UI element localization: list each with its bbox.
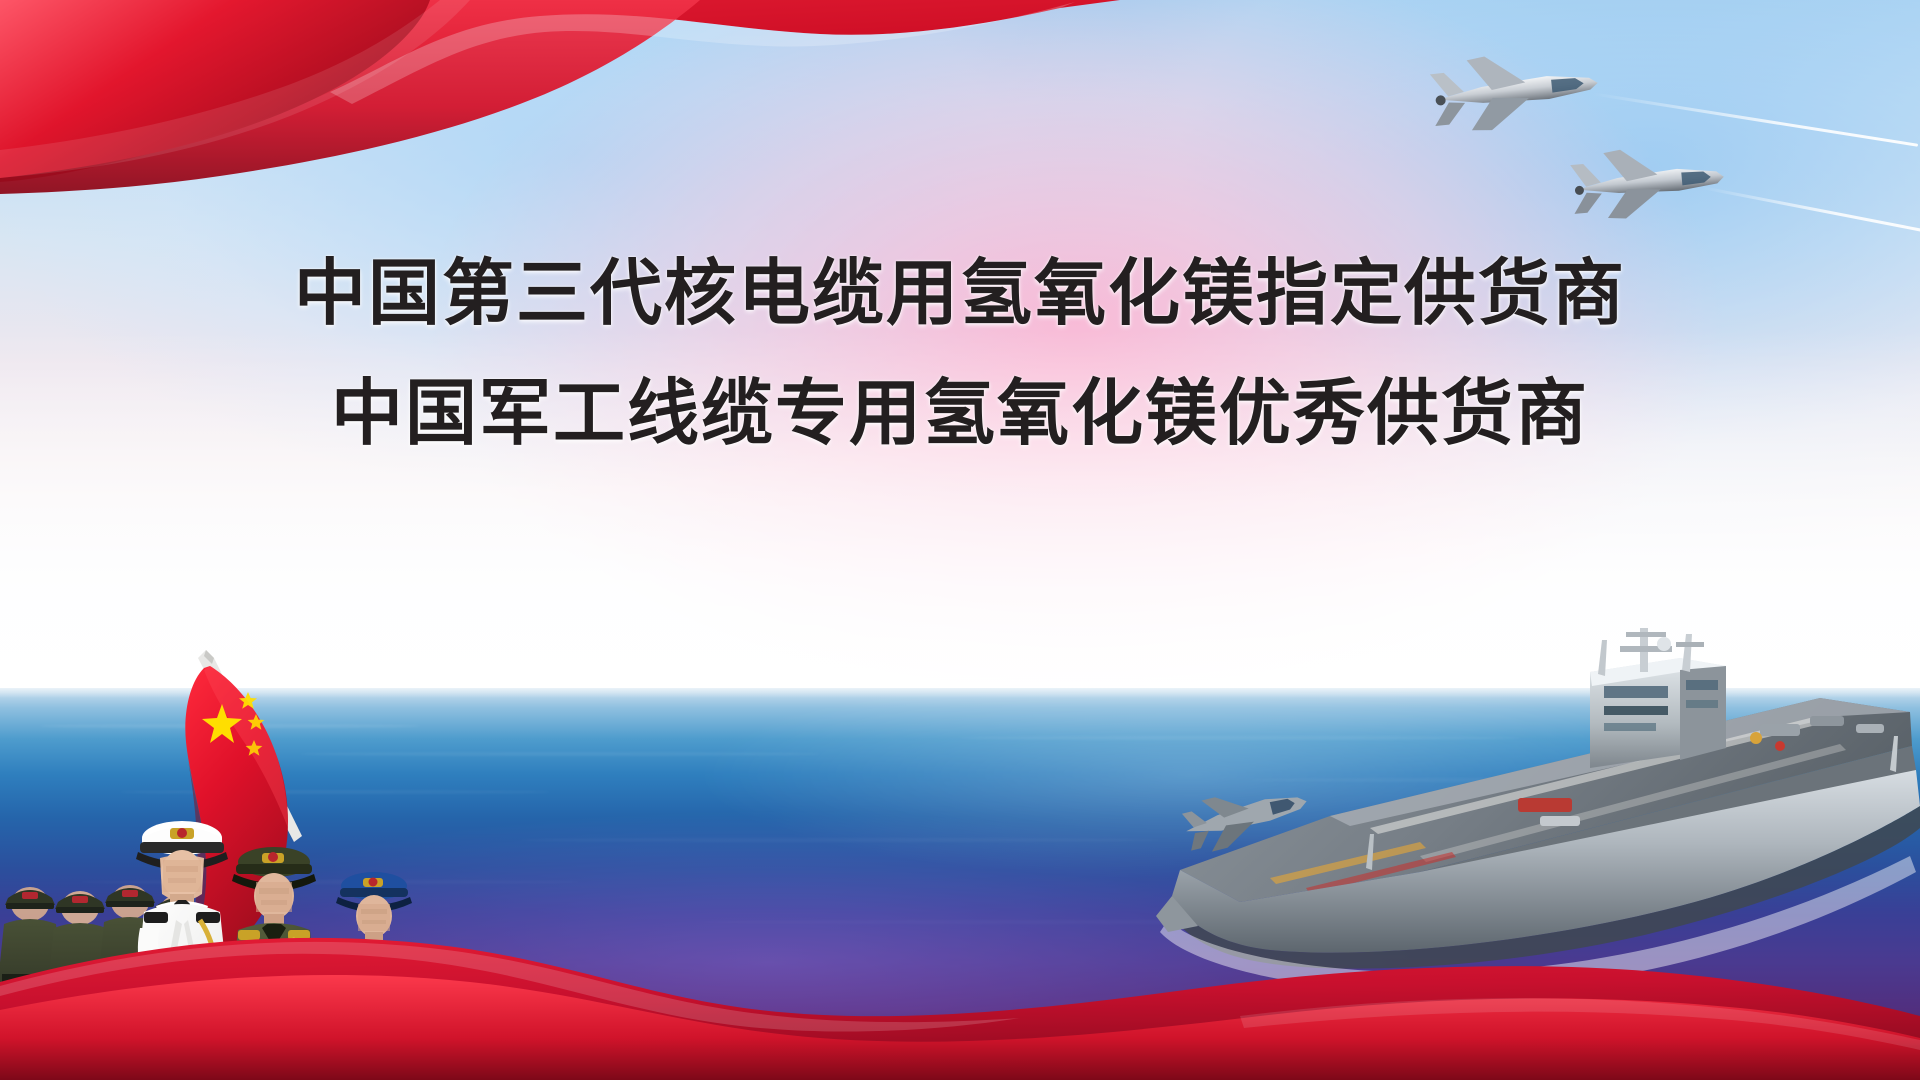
wave-streak <box>80 880 580 884</box>
honor-guard-group <box>0 630 520 1080</box>
ocean-highlight <box>0 688 1920 1080</box>
ocean-water <box>0 688 1920 1080</box>
wave-streak <box>700 920 1400 924</box>
poster-canvas: 中国第三代核电缆用氢氧化镁指定供货商 中国军工线缆专用氢氧化镁优秀供货商 <box>0 0 1920 1080</box>
wave-streak <box>960 736 1520 740</box>
red-wave-banner <box>0 900 1920 1080</box>
aircraft-carrier <box>1120 620 1920 1060</box>
fighter-jet-icon <box>1567 133 1739 231</box>
navy-officer-white <box>130 821 240 1080</box>
air-force-officer-blue <box>329 872 426 1080</box>
chinese-national-flag <box>185 650 302 962</box>
wave-streak <box>520 838 1160 842</box>
jet-contrail <box>1702 186 1920 233</box>
wave-streak <box>120 790 550 794</box>
fighter-jet-icon <box>1426 36 1614 144</box>
red-flag-ribbon <box>0 0 1120 260</box>
wave-streak <box>1250 778 1850 782</box>
army-flag-bearer-green <box>224 847 330 1080</box>
wave-streak <box>40 724 420 728</box>
wave-streak <box>300 752 820 756</box>
page-title-line-2: 中国军工线缆专用氢氧化镁优秀供货商 <box>0 370 1920 456</box>
headline-block: 中国第三代核电缆用氢氧化镁指定供货商 中国军工线缆专用氢氧化镁优秀供货商 <box>0 250 1920 456</box>
horizon-line <box>0 682 1920 698</box>
jet-contrail <box>1592 92 1918 147</box>
page-title-line-1: 中国第三代核电缆用氢氧化镁指定供货商 <box>0 250 1920 336</box>
